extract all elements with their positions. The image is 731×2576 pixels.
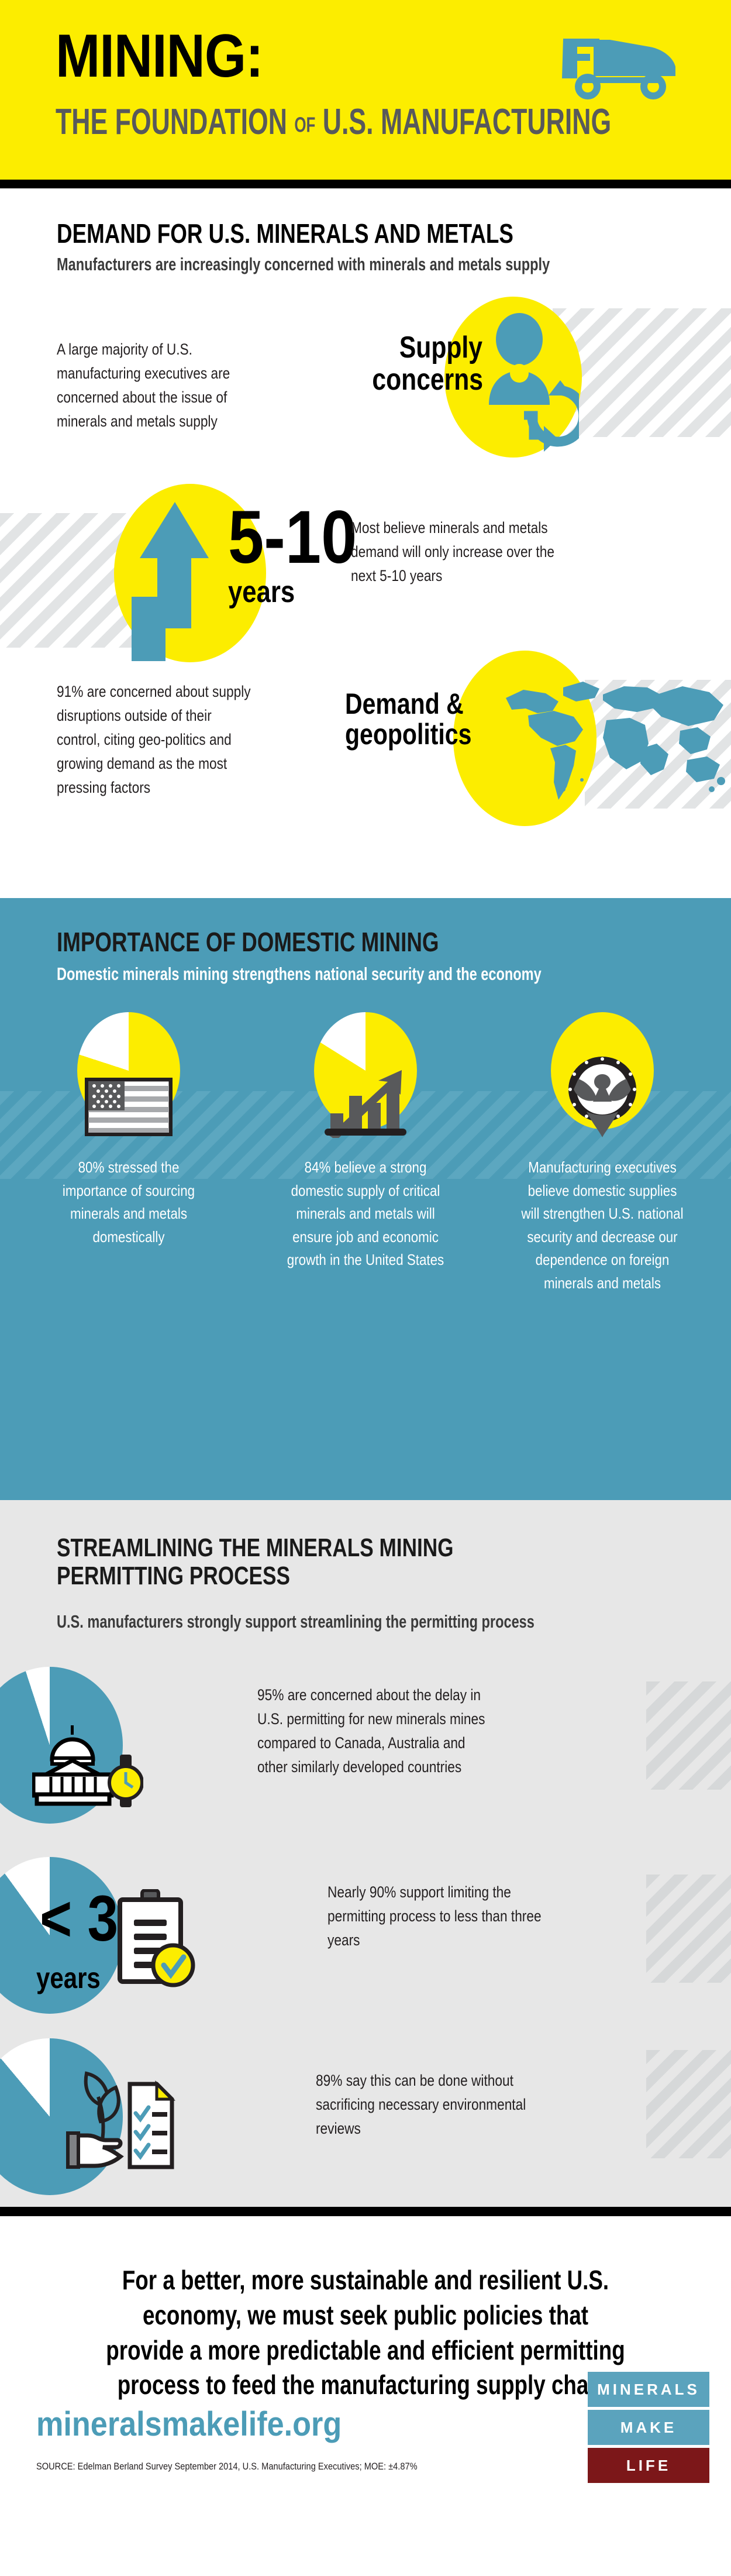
page-title: MINING: (56, 29, 263, 84)
streamlining-row-1: 95% are concerned about the delay in U.S… (0, 1667, 731, 1842)
world-map-icon (494, 677, 731, 803)
supply-concerns-callout: Supply concerns (372, 332, 482, 395)
streamlining-heading: STREAMLINING THE MINERALS MINING PERMITT… (57, 1534, 454, 1590)
demand-subheading: Manufacturers are increasingly concerned… (57, 254, 550, 275)
demand-item-2-text: Most believe minerals and metals demand … (351, 516, 557, 588)
importance-heading: IMPORTANCE OF DOMESTIC MINING (57, 926, 439, 958)
website-link[interactable]: mineralsmakelife.org (36, 2405, 342, 2444)
section-streamlining: STREAMLINING THE MINERALS MINING PERMITT… (0, 1500, 731, 2207)
importance-caption-1: 80% stressed the importance of sourcing … (46, 1156, 212, 1249)
logo-line-minerals: MINERALS (588, 2372, 709, 2407)
streamlining-row-3: 89% say this can be done without sacrifi… (0, 2038, 731, 2202)
importance-subheading: Domestic minerals mining strengthens nat… (57, 964, 542, 985)
source-citation: SOURCE: Edelman Berland Survey September… (36, 2461, 418, 2472)
bar-chart-growth-icon (319, 1068, 412, 1138)
section-demand: DEMAND FOR U.S. MINERALS AND METALS Manu… (0, 188, 731, 898)
section-importance: IMPORTANCE OF DOMESTIC MINING Domestic m… (0, 898, 731, 1500)
demand-big-number: 5-10 (228, 507, 357, 569)
footer: For a better, more sustainable and resil… (0, 2216, 731, 2576)
closing-statement: For a better, more sustainable and resil… (106, 2263, 625, 2403)
streamlining-heading-line2: PERMITTING PROCESS (57, 1562, 454, 1590)
logo-line-make: MAKE (588, 2410, 709, 2445)
demand-item-3-text: 91% are concerned about supply disruptio… (57, 680, 253, 800)
header-divider (0, 180, 731, 188)
importance-column-2: 84% believe a strong domestic supply of … (269, 1012, 462, 1272)
pie-chart-84 (314, 1012, 417, 1129)
demand-big-unit: years (228, 575, 295, 610)
clipboard-check-icon (114, 1889, 196, 1989)
streamlining-big-unit: years (36, 1961, 101, 1995)
subtitle-part-1: THE FOUNDATION (56, 102, 294, 142)
leaf-hand-checklist-icon (64, 2063, 175, 2180)
pie-chart-full (551, 1012, 654, 1129)
demand-heading: DEMAND FOR U.S. MINERALS AND METALS (57, 218, 513, 249)
streamlining-heading-line1: STREAMLINING THE MINERALS MINING (57, 1534, 454, 1562)
subtitle-of: OF (294, 112, 315, 136)
decorative-stripes (646, 1875, 731, 1983)
pie-chart-89 (0, 2038, 146, 2226)
importance-column-3: Manufacturing executives believe domesti… (506, 1012, 699, 1295)
streamlining-row-2: < 3 years Nearly 90% support limiting th… (0, 1857, 731, 2032)
pie-chart-80 (77, 1012, 180, 1129)
decorative-stripes (646, 2050, 731, 2158)
person-supply-chain-icon (474, 311, 579, 452)
streamlining-row-2-text: Nearly 90% support limiting the permitti… (327, 1880, 544, 1952)
subtitle-part-2: U.S. MANUFACTURING (315, 102, 611, 142)
us-flag-icon (85, 1078, 173, 1136)
demand-geopolitics-callout: Demand & geopolitics (345, 689, 477, 749)
rising-arrow-icon (120, 493, 231, 662)
page-subtitle: THE FOUNDATION OF U.S. MANUFACTURING (56, 105, 611, 140)
streamlining-row-1-text: 95% are concerned about the delay in U.S… (257, 1683, 488, 1779)
logo-line-life: LIFE (588, 2448, 709, 2483)
capitol-clock-icon (32, 1721, 143, 1808)
pie-chart-95 (0, 1667, 146, 1854)
streamlining-row-3-text: 89% say this can be done without sacrifi… (316, 2069, 532, 2141)
decorative-stripes (646, 1681, 731, 1790)
importance-caption-3: Manufacturing executives believe domesti… (519, 1156, 685, 1295)
streamlining-subheading: U.S. manufacturers strongly support stre… (57, 1611, 535, 1632)
footer-divider (0, 2207, 731, 2216)
importance-caption-2: 84% believe a strong domestic supply of … (282, 1156, 449, 1272)
importance-column-1: 80% stressed the importance of sourcing … (32, 1012, 225, 1249)
dump-truck-icon (558, 34, 684, 101)
header-banner: MINING: THE FOUNDATION OF U.S. MANUFACTU… (0, 0, 731, 180)
eagle-seal-icon (553, 1053, 652, 1141)
demand-item-1-text: A large majority of U.S. manufacturing e… (57, 338, 243, 434)
minerals-make-life-logo[interactable]: MINERALS MAKE LIFE (588, 2372, 709, 2483)
streamlining-big-number: < 3 (40, 1893, 118, 1945)
